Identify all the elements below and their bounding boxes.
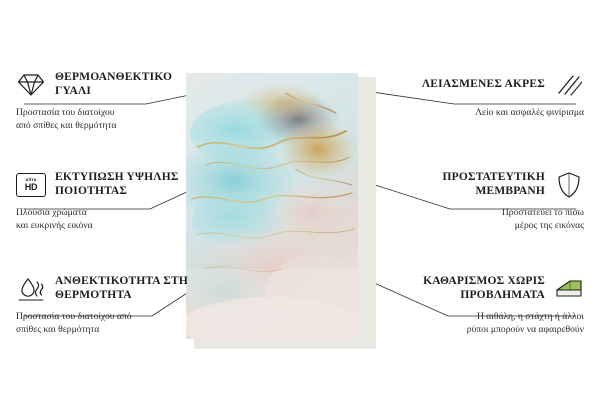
feature-title: ΛΕΙΑΣΜΕΝΕΣ ΑΚΡΕΣ	[402, 78, 545, 92]
feature-desc-line: Προστασία του διατοίχου από	[16, 311, 198, 324]
feature-desc-line: Η αιθάλη, η στάχτη ή άλλοι	[402, 311, 584, 324]
feature-easy-cleaning: ΚΑΘΑΡΙΣΜΟΣ ΧΩΡΙΣ ΠΡΟΒΛΗΜΑΤΑ Η αιθάλη, η …	[402, 272, 584, 337]
ultra-hd-badge-icon: ultra HD	[16, 170, 46, 200]
feature-title: ΘΕΡΜΟΑΝΘΕΚΤΙΚΟ ΓΥΑΛΙ	[55, 71, 198, 98]
feature-desc-line: Προστασία του διατοίχου	[16, 107, 198, 120]
feature-title: ΑΝΘΕΚΤΙΚΟΤΗΤΑ ΣΤΗ ΘΕΡΜΟΤΗΤΑ	[55, 275, 198, 302]
feature-description: Πλούσια χρώματα και ευκρινής εικόνα	[16, 207, 198, 233]
feature-description: Προστατεύει το πίσω μέρος της εικόνας	[402, 207, 584, 233]
feature-desc-line: Πλούσια χρώματα	[16, 207, 198, 220]
feature-hd-print: ultra HD ΕΚΤΥΠΩΣΗ ΥΨΗΛΗΣ ΠΟΙΟΤΗΤΑΣ Πλούσ…	[16, 168, 198, 233]
feature-desc-line: ρύποι μπορούν να αφαιρεθούν	[402, 324, 584, 337]
feature-desc-line: μέρος της εικόνας	[402, 220, 584, 233]
infographic-canvas: ΘΕΡΜΟΑΝΘΕΚΤΙΚΟ ΓΥΑΛΙ Προστασία του διατο…	[0, 0, 600, 400]
diagonal-lines-icon	[554, 70, 584, 100]
feature-desc-line: Λείο και ασφαλές φινίρισμα	[402, 107, 584, 120]
shield-icon	[554, 170, 584, 200]
product-image	[186, 73, 358, 339]
feature-thermal-glass: ΘΕΡΜΟΑΝΘΕΚΤΙΚΟ ΓΥΑΛΙ Προστασία του διατο…	[16, 68, 198, 133]
feature-smooth-edges: ΛΕΙΑΣΜΕΝΕΣ ΑΚΡΕΣ Λείο και ασφαλές φινίρι…	[402, 68, 584, 120]
feature-title: ΚΑΘΑΡΙΣΜΟΣ ΧΩΡΙΣ ΠΡΟΒΛΗΜΑΤΑ	[402, 275, 545, 302]
product-panel	[186, 73, 376, 349]
feature-description: Λείο και ασφαλές φινίρισμα	[402, 107, 584, 120]
sponge-cleaning-icon	[554, 274, 584, 304]
feature-desc-line: και ευκρινής εικόνα	[16, 220, 198, 233]
feature-desc-line: σπίθες και θερμότητα	[16, 324, 198, 337]
feature-heat-resistant: ΑΝΘΕΚΤΙΚΟΤΗΤΑ ΣΤΗ ΘΕΡΜΟΤΗΤΑ Προστασία το…	[16, 272, 198, 337]
diamond-icon	[16, 70, 46, 100]
feature-title: ΕΚΤΥΠΩΣΗ ΥΨΗΛΗΣ ΠΟΙΟΤΗΤΑΣ	[55, 171, 198, 198]
feature-protective-membrane: ΠΡΟΣΤΑΤΕΥΤΙΚΗ ΜΕΜΒΡΑΝΗ Προστατεύει το πί…	[402, 168, 584, 233]
feature-description: Προστασία του διατοίχου από σπίθες και θ…	[16, 311, 198, 337]
feature-desc-line: από σπίθες και θερμότητα	[16, 120, 198, 133]
water-drop-heat-icon	[16, 274, 46, 304]
feature-desc-line: Προστατεύει το πίσω	[402, 207, 584, 220]
feature-description: Προστασία του διατοίχου από σπίθες και θ…	[16, 107, 198, 133]
feature-description: Η αιθάλη, η στάχτη ή άλλοι ρύποι μπορούν…	[402, 311, 584, 337]
feature-title: ΠΡΟΣΤΑΤΕΥΤΙΚΗ ΜΕΜΒΡΑΝΗ	[402, 171, 545, 198]
